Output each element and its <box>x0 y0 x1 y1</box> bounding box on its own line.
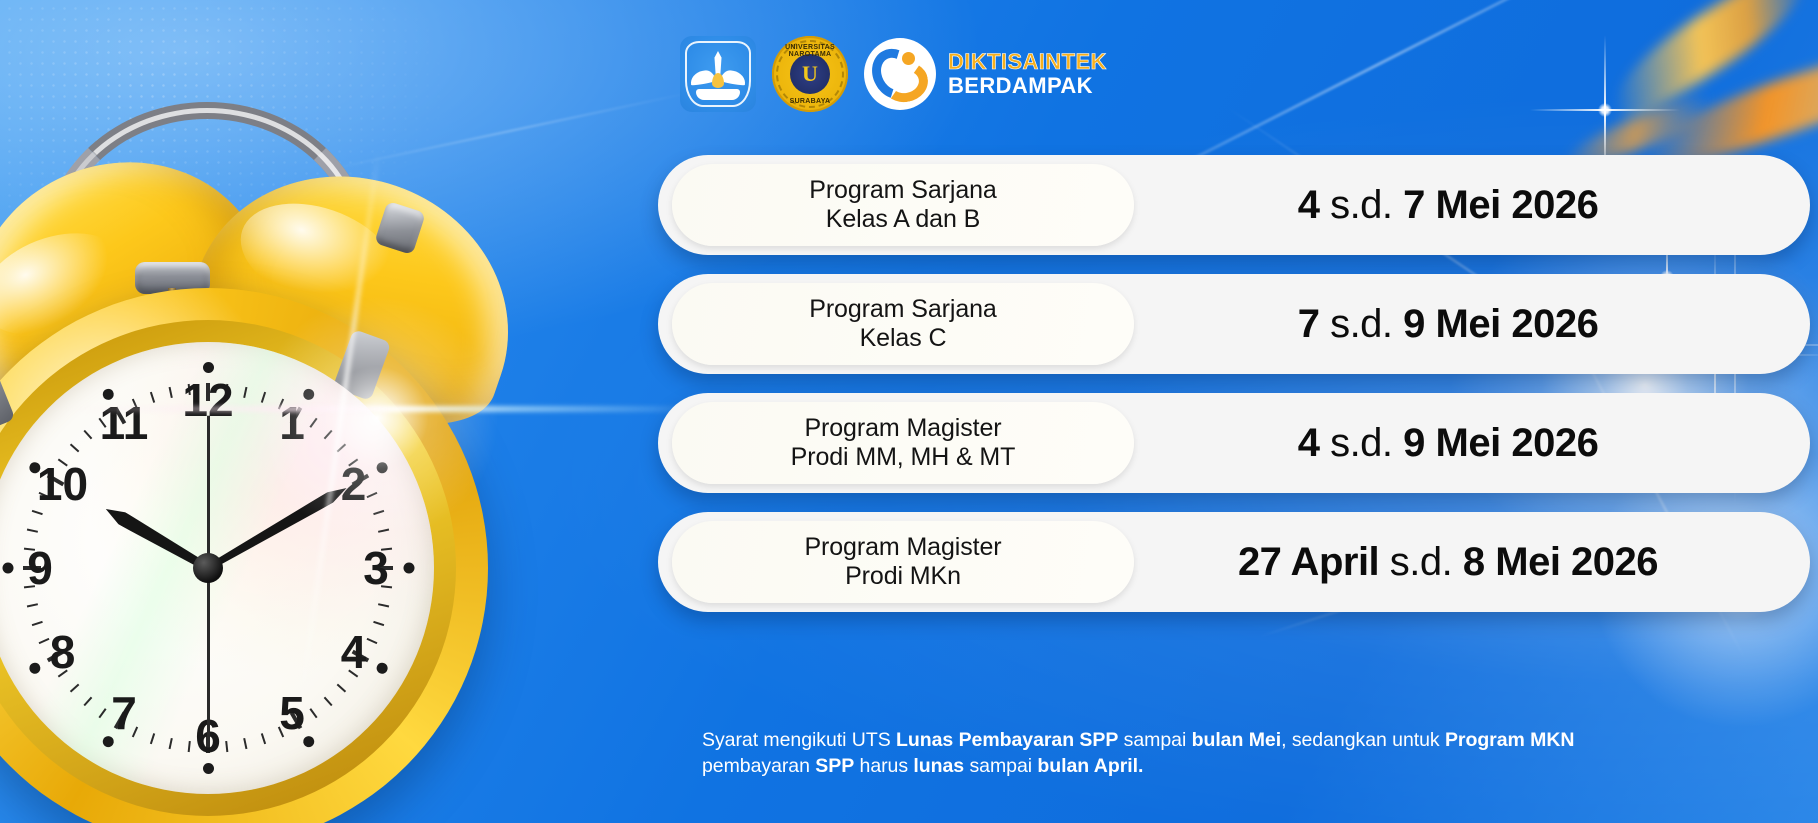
date-end: 9 Mei 2026 <box>1403 302 1598 346</box>
program-line-2: Kelas C <box>860 324 947 353</box>
diktisaintek-wordmark: DIKTISAINTEK BERDAMPAK <box>948 51 1107 97</box>
universitas-narotama-logo: UNIVERSITAS NAROTAMA SURABAYA U <box>772 36 848 112</box>
tut-wuri-handayani-logo <box>680 36 756 112</box>
program-line-2: Kelas A dan B <box>826 205 980 234</box>
footer-note: Syarat mengikuti UTS Lunas Pembayaran SP… <box>702 728 1602 779</box>
alarm-clock-illustration: 121234567891011 <box>0 88 582 823</box>
tut-wuri-glyph <box>691 49 745 99</box>
diktisaintek-mark-icon <box>864 38 936 110</box>
date-separator: s.d. <box>1390 540 1452 584</box>
narotama-top-text: UNIVERSITAS NAROTAMA <box>772 44 848 58</box>
program-pill: Program MagisterProdi MKn <box>672 521 1134 603</box>
footer-bold-3: Program MKN <box>1445 729 1574 751</box>
schedule-card[interactable]: Program SarjanaKelas C7 s.d. 9 Mei 2026 <box>658 274 1810 374</box>
clock-hour-dot <box>203 763 214 774</box>
date-start: 4 <box>1298 421 1320 465</box>
date-start: 7 <box>1298 302 1320 346</box>
diktisaintek-line1: DIKTISAINTEK <box>948 51 1107 73</box>
date-end: 8 Mei 2026 <box>1463 540 1658 584</box>
banner-stage: 121234567891011 UNIVERSITAS NAROTAMA SUR… <box>0 0 1818 823</box>
clock-number: 1 <box>279 396 305 450</box>
flame-icon <box>712 73 724 88</box>
schedule-date: 4 s.d. 9 Mei 2026 <box>1163 421 1733 466</box>
diktisaintek-logo: DIKTISAINTEK BERDAMPAK <box>864 38 1107 110</box>
date-end: 7 Mei 2026 <box>1403 183 1598 227</box>
footer-bold-6: bulan April. <box>1037 755 1143 777</box>
schedule-card[interactable]: Program SarjanaKelas A dan B4 s.d. 7 Mei… <box>658 155 1810 255</box>
clock-hour-dot <box>203 362 214 373</box>
logo-row: UNIVERSITAS NAROTAMA SURABAYA U DIKTISAI… <box>680 34 1107 114</box>
footer-text-1: Syarat mengikuti UTS <box>702 729 896 751</box>
clock-center-pin <box>193 553 223 583</box>
clock-number: 8 <box>50 625 76 679</box>
narotama-bottom-text: SURABAYA <box>772 98 848 105</box>
date-end: 9 Mei 2026 <box>1403 421 1598 465</box>
footer-bold-2: bulan Mei <box>1192 729 1281 751</box>
date-separator: s.d. <box>1330 421 1392 465</box>
date-separator: s.d. <box>1330 183 1392 227</box>
clock-number: 2 <box>341 457 367 511</box>
date-start: 4 <box>1298 183 1320 227</box>
person-head-icon <box>902 52 915 65</box>
footer-bold-1: Lunas Pembayaran SPP <box>896 729 1118 751</box>
clock-number: 10 <box>37 457 88 511</box>
footer-bold-4: SPP <box>815 755 854 777</box>
program-line-2: Prodi MM, MH & MT <box>791 443 1016 472</box>
footer-text-4: pembayaran <box>702 755 815 777</box>
footer-text-6: sampai <box>964 755 1037 777</box>
schedule-date: 7 s.d. 9 Mei 2026 <box>1163 302 1733 347</box>
clock-number: 5 <box>279 686 305 740</box>
schedule-date: 4 s.d. 7 Mei 2026 <box>1163 183 1733 228</box>
footer-text-3: , sedangkan untuk <box>1281 729 1445 751</box>
clock-number: 7 <box>111 686 137 740</box>
schedule-card[interactable]: Program MagisterProdi MKn27 April s.d. 8… <box>658 512 1810 612</box>
schedule-card-list: Program SarjanaKelas A dan B4 s.d. 7 Mei… <box>658 155 1810 631</box>
program-pill: Program SarjanaKelas A dan B <box>672 164 1134 246</box>
program-line-2: Prodi MKn <box>845 562 961 591</box>
clock-hour-dot <box>2 563 13 574</box>
schedule-date: 27 April s.d. 8 Mei 2026 <box>1163 540 1733 585</box>
book-icon <box>696 89 740 100</box>
clock-number: 11 <box>100 396 149 450</box>
footer-bold-5: lunas <box>913 755 964 777</box>
program-line-1: Program Sarjana <box>809 176 996 205</box>
diktisaintek-line2: BERDAMPAK <box>948 75 1107 97</box>
program-line-1: Program Magister <box>804 414 1001 443</box>
schedule-card[interactable]: Program MagisterProdi MM, MH & MT4 s.d. … <box>658 393 1810 493</box>
clock-number: 3 <box>363 541 389 595</box>
date-start: 27 April <box>1238 540 1379 584</box>
date-separator: s.d. <box>1330 302 1392 346</box>
program-pill: Program SarjanaKelas C <box>672 283 1134 365</box>
clock-hour-dot <box>403 563 414 574</box>
footer-text-5: harus <box>854 755 913 777</box>
program-line-1: Program Sarjana <box>809 295 996 324</box>
footer-text-2: sampai <box>1118 729 1191 751</box>
program-pill: Program MagisterProdi MM, MH & MT <box>672 402 1134 484</box>
clock-number: 9 <box>27 541 53 595</box>
clock-number: 4 <box>341 625 367 679</box>
clock-face: 121234567891011 <box>0 342 434 794</box>
program-line-1: Program Magister <box>804 533 1001 562</box>
wing-right-icon <box>720 69 747 86</box>
